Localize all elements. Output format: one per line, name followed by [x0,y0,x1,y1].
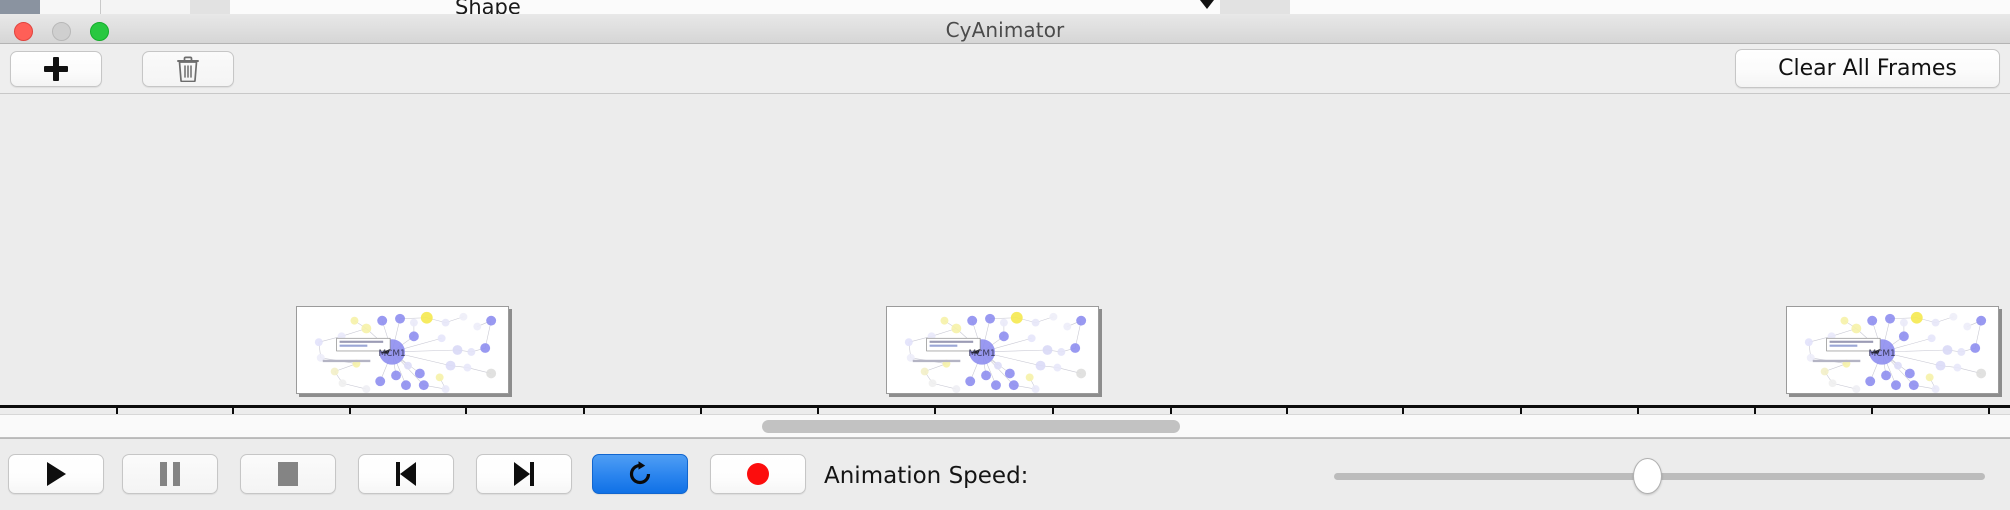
plus-icon [44,57,68,81]
window-title: CyAnimator [0,18,2010,42]
add-frame-button[interactable] [10,51,102,87]
cyanimator-window: Shape CyAnimator Clear All Frames MCM1MC… [0,0,2010,510]
toolbar: Clear All Frames [0,44,2010,94]
clear-all-frames-label: Clear All Frames [1778,56,1957,81]
network-graph-preview: MCM1 [1787,307,1998,393]
animation-speed-slider[interactable] [1334,468,1985,482]
animation-speed-label: Animation Speed: [824,463,1028,489]
bg-segment [900,0,1221,14]
last-frame-button[interactable] [476,454,572,494]
bg-segment [1220,0,1291,14]
network-graph-preview: MCM1 [887,307,1098,393]
bg-segment [190,0,231,14]
bg-segment [640,0,901,14]
bg-segment [340,0,411,14]
frame-thumbnail-2[interactable]: MCM1 [886,306,1099,394]
bg-segment [230,0,341,14]
svg-text:MCM1: MCM1 [378,349,405,359]
frame-thumbnail-3[interactable]: MCM1 [1786,306,1999,394]
stop-icon [278,462,298,486]
timeline-panel[interactable]: MCM1MCM1MCM1 12131415161718 Seconds [0,94,2010,414]
play-button[interactable] [8,454,104,494]
timeline-scrollbar[interactable] [0,414,2010,438]
clear-all-frames-button[interactable]: Clear All Frames [1735,49,2000,88]
frame-thumbnail-1[interactable]: MCM1 [296,306,509,394]
bg-column-label: Shape [455,0,521,14]
delete-frame-button[interactable] [142,51,234,87]
slider-thumb[interactable] [1633,458,1662,494]
record-button[interactable] [710,454,806,494]
record-icon [747,463,769,485]
bg-segment [40,0,101,14]
title-bar: CyAnimator [0,14,2010,44]
skip-back-icon [396,462,416,486]
scrollbar-thumb[interactable] [762,420,1180,433]
svg-text:MCM1: MCM1 [968,349,995,359]
skip-forward-icon [514,462,534,486]
bg-sort-arrow-icon [1200,0,1214,9]
stop-button[interactable] [240,454,336,494]
pause-button[interactable] [122,454,218,494]
loop-button[interactable] [592,454,688,494]
playback-controls: Animation Speed: [0,438,2010,510]
bg-segment [1670,0,2010,14]
play-icon [47,462,66,486]
bg-segment [0,0,41,14]
loop-icon [626,460,654,488]
pause-icon [160,462,180,486]
svg-text:MCM1: MCM1 [1868,349,1895,359]
background-window-strip: Shape [0,0,2010,14]
timeline-axis [0,405,2010,408]
first-frame-button[interactable] [358,454,454,494]
trash-icon [177,56,199,82]
bg-segment [410,0,641,14]
network-graph-preview: MCM1 [297,307,508,393]
bg-segment [1290,0,1671,14]
